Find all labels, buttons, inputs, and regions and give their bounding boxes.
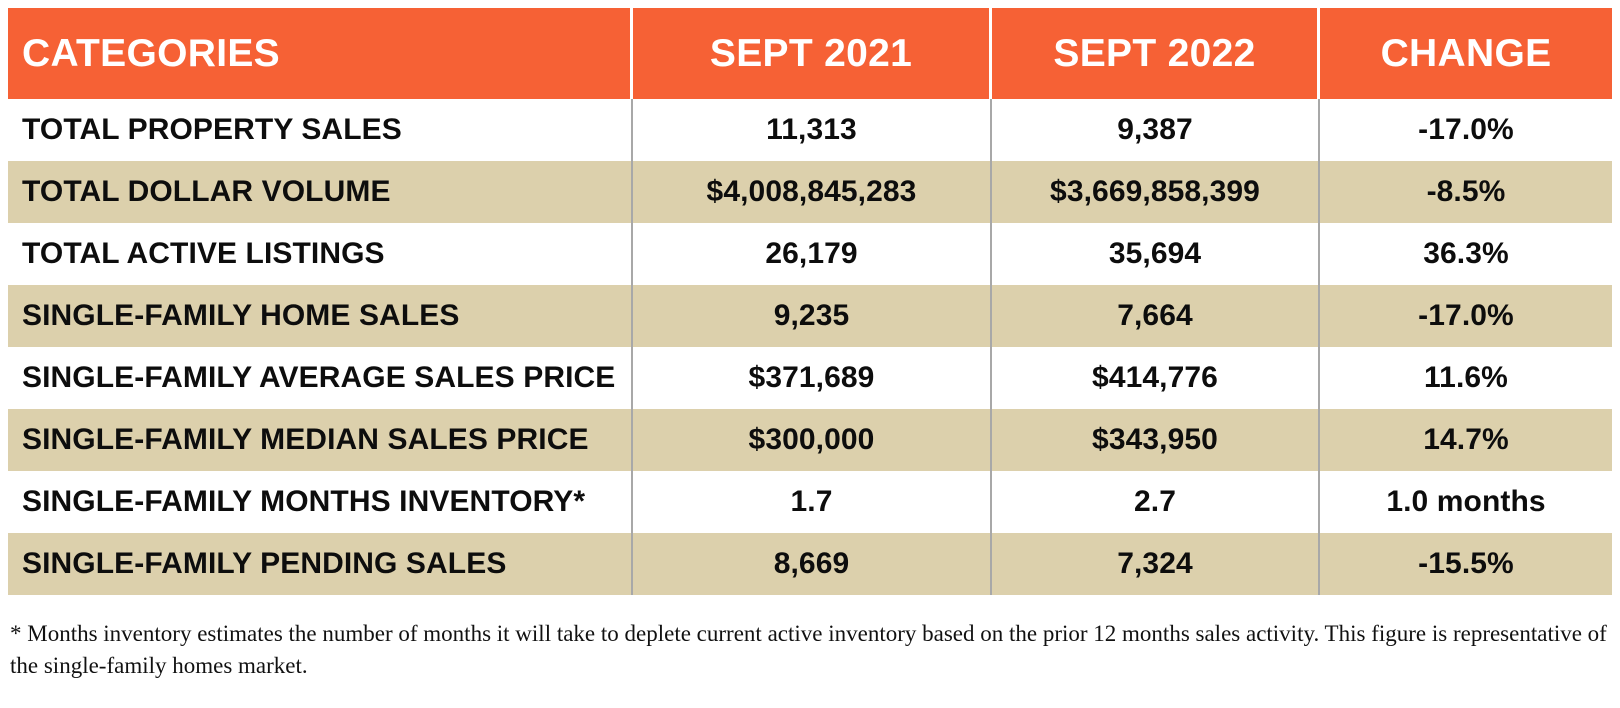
cell-sept-2021: 8,669 [633,533,992,595]
cell-change: 14.7% [1320,409,1612,471]
cell-category: TOTAL PROPERTY SALES [8,99,633,161]
table-row: SINGLE-FAMILY MEDIAN SALES PRICE $300,00… [8,409,1612,471]
table-header: CATEGORIES SEPT 2021 SEPT 2022 CHANGE [8,8,1612,99]
market-statistics-table: CATEGORIES SEPT 2021 SEPT 2022 CHANGE TO… [8,8,1612,595]
cell-change: 11.6% [1320,347,1612,409]
cell-sept-2022: $343,950 [992,409,1320,471]
cell-sept-2022: 7,664 [992,285,1320,347]
column-header-sept-2021: SEPT 2021 [633,8,992,99]
table-header-row: CATEGORIES SEPT 2021 SEPT 2022 CHANGE [8,8,1612,99]
column-header-categories: CATEGORIES [8,8,633,99]
table-row: SINGLE-FAMILY PENDING SALES 8,669 7,324 … [8,533,1612,595]
cell-sept-2022: 2.7 [992,471,1320,533]
footnote-text: * Months inventory estimates the number … [10,618,1610,682]
cell-sept-2022: 9,387 [992,99,1320,161]
table-row: SINGLE-FAMILY AVERAGE SALES PRICE $371,6… [8,347,1612,409]
table-row: SINGLE-FAMILY MONTHS INVENTORY* 1.7 2.7 … [8,471,1612,533]
cell-sept-2021: $300,000 [633,409,992,471]
cell-sept-2021: 9,235 [633,285,992,347]
cell-sept-2022: $3,669,858,399 [992,161,1320,223]
cell-change: -8.5% [1320,161,1612,223]
cell-sept-2021: $4,008,845,283 [633,161,992,223]
cell-category: TOTAL ACTIVE LISTINGS [8,223,633,285]
cell-sept-2022: 35,694 [992,223,1320,285]
cell-sept-2021: 26,179 [633,223,992,285]
cell-change: -17.0% [1320,99,1612,161]
cell-category: SINGLE-FAMILY MEDIAN SALES PRICE [8,409,633,471]
table-body: TOTAL PROPERTY SALES 11,313 9,387 -17.0%… [8,99,1612,595]
cell-category: TOTAL DOLLAR VOLUME [8,161,633,223]
stats-table-page: CATEGORIES SEPT 2021 SEPT 2022 CHANGE TO… [0,0,1620,708]
cell-change: 36.3% [1320,223,1612,285]
cell-category: SINGLE-FAMILY PENDING SALES [8,533,633,595]
table-row: SINGLE-FAMILY HOME SALES 9,235 7,664 -17… [8,285,1612,347]
table-row: TOTAL PROPERTY SALES 11,313 9,387 -17.0% [8,99,1612,161]
cell-sept-2021: 11,313 [633,99,992,161]
cell-sept-2022: $414,776 [992,347,1320,409]
cell-category: SINGLE-FAMILY HOME SALES [8,285,633,347]
cell-change: 1.0 months [1320,471,1612,533]
cell-sept-2021: $371,689 [633,347,992,409]
cell-sept-2022: 7,324 [992,533,1320,595]
cell-change: -15.5% [1320,533,1612,595]
cell-change: -17.0% [1320,285,1612,347]
cell-category: SINGLE-FAMILY AVERAGE SALES PRICE [8,347,633,409]
table-row: TOTAL DOLLAR VOLUME $4,008,845,283 $3,66… [8,161,1612,223]
cell-sept-2021: 1.7 [633,471,992,533]
column-header-sept-2022: SEPT 2022 [992,8,1320,99]
column-header-change: CHANGE [1320,8,1612,99]
cell-category: SINGLE-FAMILY MONTHS INVENTORY* [8,471,633,533]
table-row: TOTAL ACTIVE LISTINGS 26,179 35,694 36.3… [8,223,1612,285]
